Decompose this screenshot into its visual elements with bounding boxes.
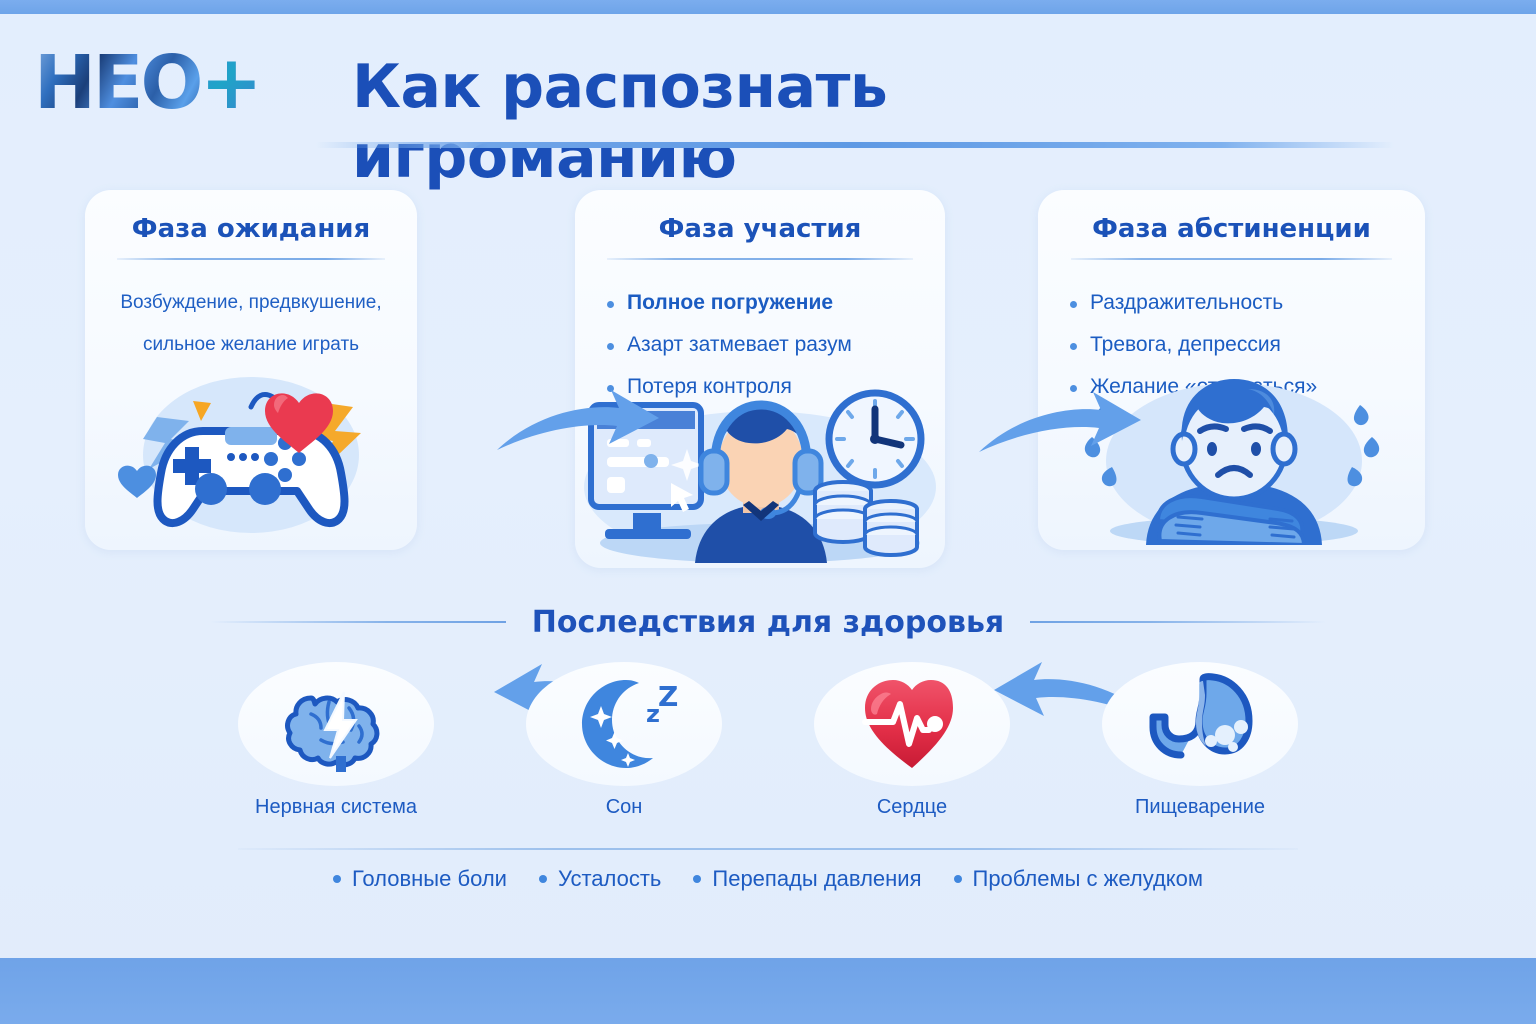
- list-item: Полное погружение: [601, 282, 919, 324]
- phase-cards: Фаза ожидания Возбуждение, предвкушение,…: [85, 190, 1425, 568]
- phase-card-title: Фаза абстиненции: [1064, 212, 1399, 246]
- header-rule-right: [1030, 621, 1326, 623]
- svg-text:Z: Z: [658, 680, 678, 713]
- header-rule-left: [210, 621, 506, 623]
- brand-logo-text: НЕО: [34, 40, 200, 126]
- phase-card-divider: [607, 258, 912, 260]
- bullet-dot-icon: [693, 875, 701, 883]
- icon-blob: z Z: [526, 662, 722, 786]
- heart-pulse-icon: [857, 674, 967, 774]
- page-title: Как распознать игроманию: [352, 52, 1172, 192]
- health-item-nervous-system[interactable]: Нервная система: [238, 662, 434, 819]
- bullet-dot-icon: [333, 875, 341, 883]
- list-item: Раздражительность: [1064, 282, 1399, 324]
- icon-blob: [1102, 662, 1298, 786]
- list-item: Усталость: [539, 866, 661, 892]
- symptom-label: Усталость: [558, 866, 661, 892]
- health-item-label: Сердце: [814, 796, 1010, 819]
- top-band: [0, 0, 1536, 14]
- symptom-label: Головные боли: [352, 866, 507, 892]
- health-item-digestion[interactable]: Пищеварение: [1102, 662, 1298, 819]
- bottom-band: [0, 958, 1536, 1024]
- list-item: Проблемы с желудком: [954, 866, 1204, 892]
- phase-card-title: Фаза участия: [601, 212, 919, 246]
- symptoms-divider: [238, 848, 1298, 850]
- symptom-label: Перепады давления: [712, 866, 921, 892]
- stomach-icon: [1145, 673, 1255, 775]
- list-item: Азарт затмевает разум: [601, 324, 919, 366]
- symptoms-list: Головные боли Усталость Перепады давлени…: [0, 866, 1536, 892]
- moon-zzz-icon: z Z: [568, 674, 680, 774]
- brain-lightning-icon: [281, 674, 391, 774]
- infographic-page: НЕО+ Как распознать игроманию Фаза ожида…: [0, 0, 1536, 1024]
- phase-card-title: Фаза ожидания: [111, 212, 391, 246]
- list-item: Перепады давления: [693, 866, 921, 892]
- brand-logo-plus: +: [200, 40, 259, 126]
- brand-logo: НЕО+: [34, 46, 259, 120]
- phase-card-uchastiya[interactable]: Фаза участия Полное погружение Азарт зат…: [575, 190, 945, 568]
- header: НЕО+ Как распознать игроманию: [0, 14, 1536, 146]
- health-icon-row: Нервная система z Z Сон: [238, 662, 1298, 819]
- icon-blob: [238, 662, 434, 786]
- symptom-label: Проблемы с желудком: [973, 866, 1204, 892]
- bullet-dot-icon: [539, 875, 547, 883]
- title-underline: [316, 142, 1394, 148]
- list-item: Тревога, депрессия: [1064, 324, 1399, 366]
- phase-card-abstinencii[interactable]: Фаза абстиненции Раздражительность Трево…: [1038, 190, 1425, 550]
- consequences-section: Последствия для здоровья Нервная система: [0, 600, 1536, 644]
- health-item-label: Нервная система: [238, 796, 434, 819]
- health-item-label: Сон: [526, 796, 722, 819]
- consequences-header: Последствия для здоровья: [0, 600, 1536, 644]
- health-item-sleep[interactable]: z Z Сон: [526, 662, 722, 819]
- gamepad-hearts-illustration: [85, 359, 417, 550]
- icon-blob: [814, 662, 1010, 786]
- phase-card-lead: Возбуждение, предвкушение, сильное желан…: [111, 282, 391, 366]
- consequences-title: Последствия для здоровья: [532, 605, 1004, 640]
- phase-card-divider: [1071, 258, 1393, 260]
- arrow-phase2-to-phase3-icon: [975, 390, 1145, 467]
- list-item: Головные боли: [333, 866, 507, 892]
- phase-card-ozhidaniya[interactable]: Фаза ожидания Возбуждение, предвкушение,…: [85, 190, 417, 550]
- phase-card-divider: [117, 258, 386, 260]
- arrow-phase1-to-phase2-icon: [493, 388, 663, 465]
- bullet-dot-icon: [954, 875, 962, 883]
- health-item-heart[interactable]: Сердце: [814, 662, 1010, 819]
- health-item-label: Пищеварение: [1102, 796, 1298, 819]
